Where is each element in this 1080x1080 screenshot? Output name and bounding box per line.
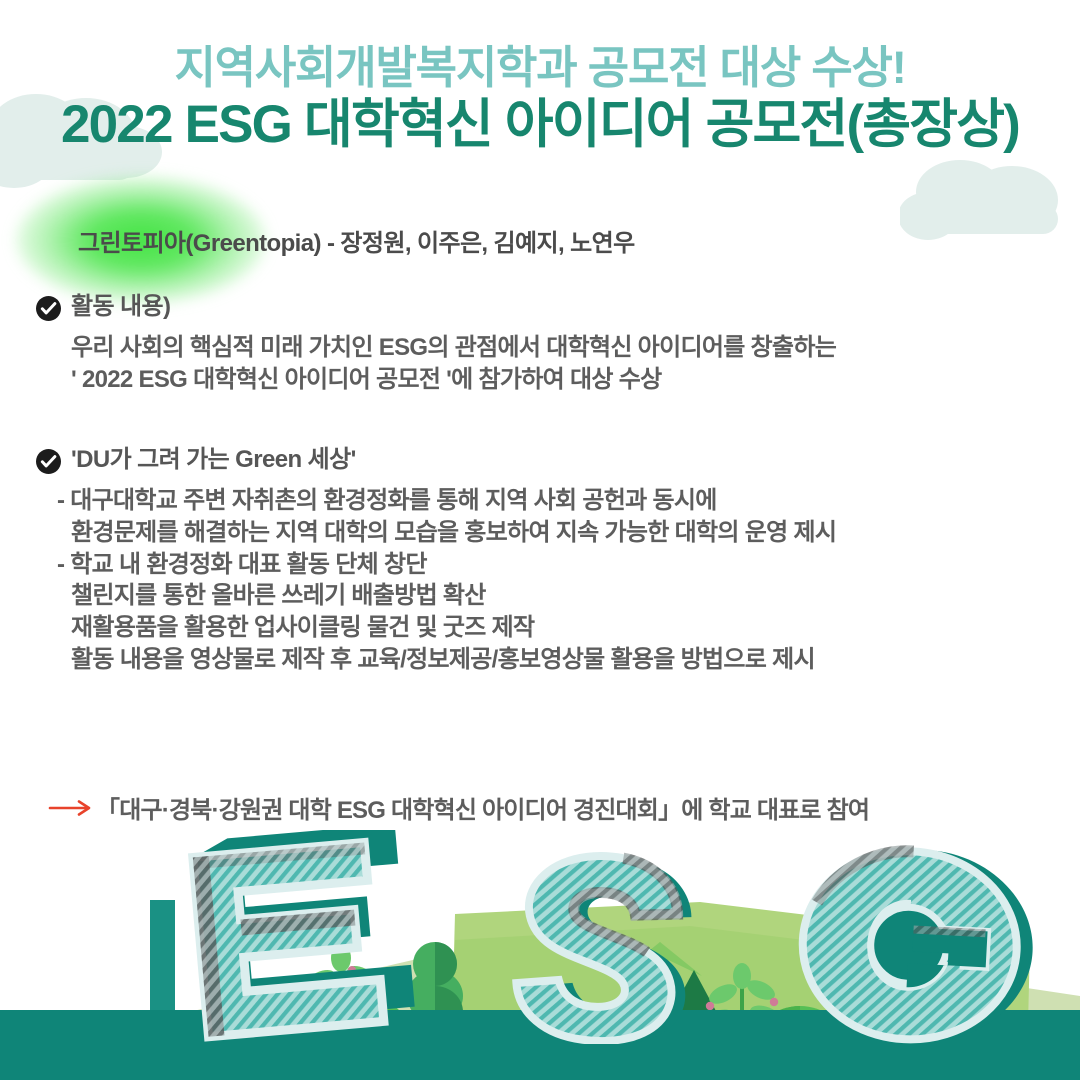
team-name-row: 그린토피아(Greentopia) - 장정원, 이주은, 김예지, 노연우	[78, 218, 635, 262]
conclusion-label: 「대구·경북·강원권 대학 ESG 대학혁신 아이디어 경진대회」에 학교 대표…	[96, 790, 869, 825]
esg-award-poster: 지역사회개발복지학과 공모전 대상 수상! 2022 ESG 대학혁신 아이디어…	[0, 0, 1080, 1080]
section-line: 우리 사회의 핵심적 미래 가치인 ESG의 관점에서 대학혁신 아이디어를 창…	[0, 332, 1080, 364]
right-arrow-icon	[48, 798, 94, 818]
section-line: 환경문제를 해결하는 지역 대학의 모습을 홍보하여 지속 가능한 대학의 운영…	[0, 517, 1080, 549]
section-heading-row: 'DU가 그려 가는 Green 세상'	[0, 445, 1080, 475]
check-circle-icon	[36, 296, 61, 321]
section-heading-label: 활동 내용)	[71, 292, 170, 322]
title-line-main: 2022 ESG 대학혁신 아이디어 공모전(총장상)	[0, 97, 1080, 153]
teal-ground-band-front	[0, 1044, 1080, 1080]
section-line: 활동 내용을 영상물로 제작 후 교육/정보제공/홍보영상물 활용을 방법으로 …	[0, 644, 1080, 676]
section-line: 챌린지를 통한 올바른 쓰레기 배출방법 확산	[0, 580, 1080, 612]
section-line: 재활용품을 활용한 업사이클링 물건 및 굿즈 제작	[0, 612, 1080, 644]
section-line: - 학교 내 환경정화 대표 활동 단체 창단	[0, 549, 1080, 581]
letter-E	[191, 830, 415, 1037]
section-du-green-world: 'DU가 그려 가는 Green 세상' - 대구대학교 주변 자취촌의 환경정…	[0, 445, 1080, 675]
title-line-subtitle: 지역사회개발복지학과 공모전 대상 수상!	[0, 44, 1080, 91]
cloud-shape-right	[900, 148, 1080, 256]
content-body: 활동 내용) 우리 사회의 핵심적 미래 가치인 ESG의 관점에서 대학혁신 …	[0, 292, 1080, 675]
section-line: ' 2022 ESG 대학혁신 아이디어 공모전 '에 참가하여 대상 수상	[0, 364, 1080, 396]
team-name-label: 그린토피아(Greentopia) - 장정원, 이주은, 김예지, 노연우	[78, 223, 635, 258]
page-title: 지역사회개발복지학과 공모전 대상 수상! 2022 ESG 대학혁신 아이디어…	[0, 44, 1080, 153]
esg-illustration	[0, 830, 1080, 1080]
section-heading-row: 활동 내용)	[0, 292, 1080, 322]
section-line: - 대구대학교 주변 자취촌의 환경정화를 통해 지역 사회 공헌과 동시에	[0, 485, 1080, 517]
section-activity-content: 활동 내용) 우리 사회의 핵심적 미래 가치인 ESG의 관점에서 대학혁신 …	[0, 292, 1080, 395]
conclusion-row: 「대구·경북·강원권 대학 ESG 대학혁신 아이디어 경진대회」에 학교 대표…	[48, 790, 869, 825]
check-circle-icon	[36, 449, 61, 474]
section-heading-label: 'DU가 그려 가는 Green 세상'	[71, 445, 356, 475]
